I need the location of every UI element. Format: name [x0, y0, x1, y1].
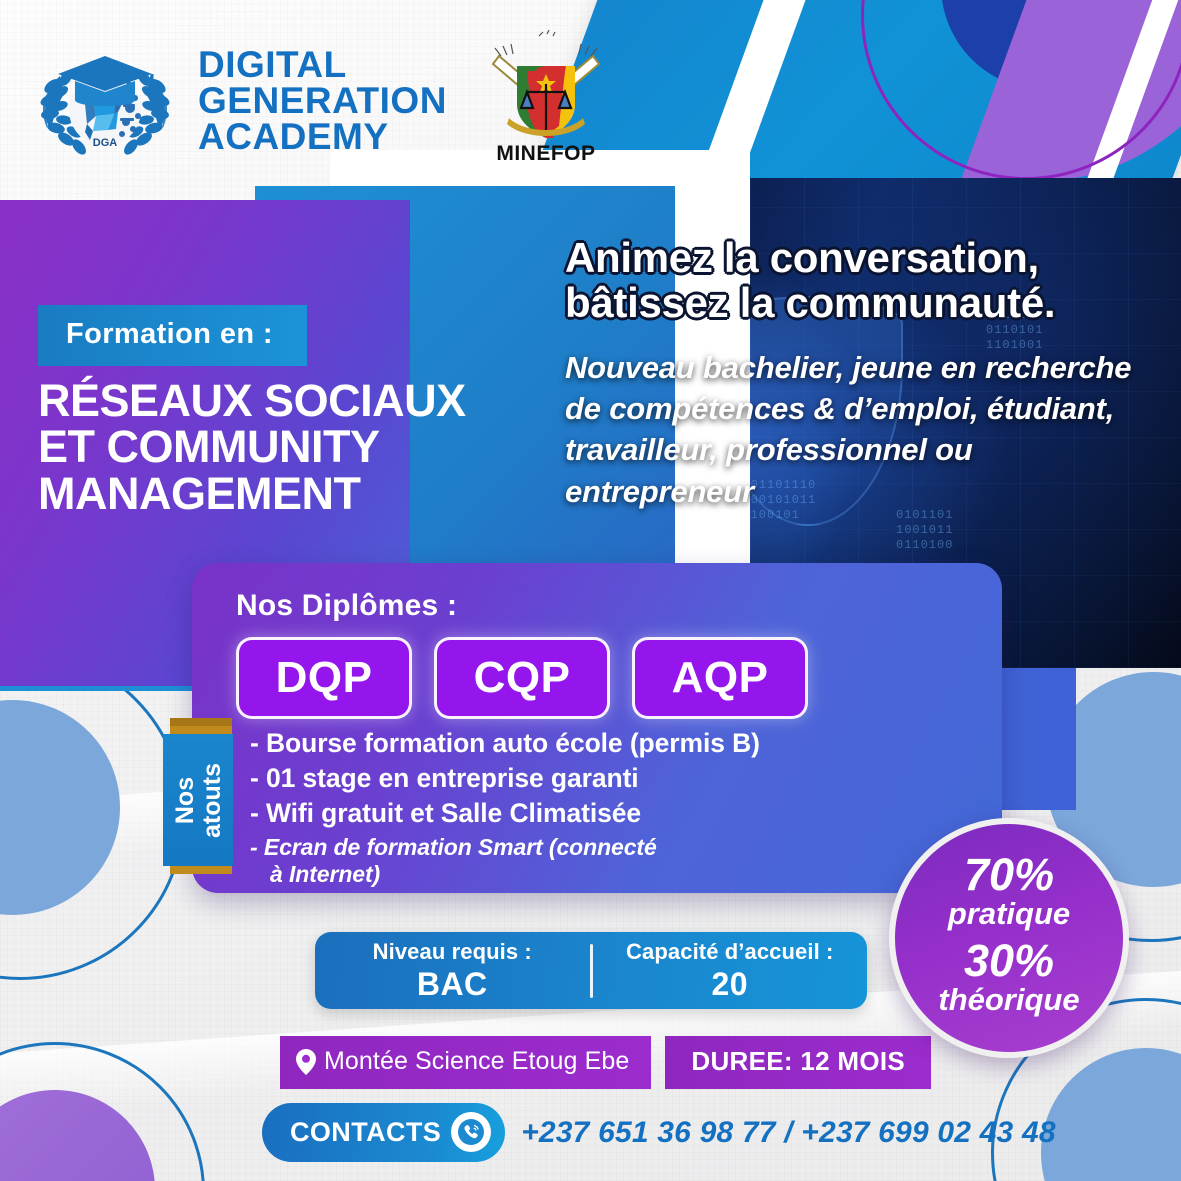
atouts-item-3: - Wifi gratuit et Salle Climatisée	[250, 796, 970, 831]
theory-percent: 30%	[964, 938, 1054, 983]
diploma-badge-dqp[interactable]: DQP	[236, 637, 412, 719]
atouts-item-4-line-1: - Ecran de formation Smart (connecté	[250, 834, 657, 860]
top-right-purple-ring	[861, 0, 1181, 180]
diploma-badge-aqp[interactable]: AQP	[632, 637, 808, 719]
atouts-item-4: - Ecran de formation Smart (connecté à I…	[250, 834, 970, 887]
headline-line-2: bâtissez la communauté.	[565, 279, 1055, 326]
brand-line-2: GENERATION	[198, 83, 447, 119]
brand-line-1: DIGITAL	[198, 47, 447, 83]
bottom-right-blue-circle-2	[1041, 1048, 1181, 1181]
contacts-badge[interactable]: CONTACTS	[262, 1103, 505, 1162]
headline-block: Animez la conversation, bâtissez la comm…	[565, 236, 1160, 512]
formation-tag: Formation en :	[38, 305, 307, 366]
binary-texture-2: 0101101 1001011 0110100	[896, 508, 953, 553]
contacts-row: CONTACTS +237 651 36 98 77 / +237 699 02…	[262, 1103, 1056, 1162]
top-right-white-strip	[680, 0, 860, 230]
headline-subtitle: Nouveau bachelier, jeune en recherche de…	[565, 347, 1160, 512]
brand-name: DIGITAL GENERATION ACADEMY	[198, 47, 447, 155]
phone-icon-circle	[451, 1112, 491, 1152]
practice-label: pratique	[948, 897, 1070, 932]
dga-logo: DGA	[30, 34, 180, 169]
minefop-label: MINEFOP	[496, 142, 595, 166]
top-right-violet-shape	[961, 0, 1181, 180]
minefop-logo: MINEFOP	[477, 26, 615, 176]
contact-phone-numbers: +237 651 36 98 77 / +237 699 02 43 48	[521, 1116, 1056, 1150]
top-right-navy-circle	[941, 0, 1151, 90]
practice-percent: 70%	[964, 852, 1054, 897]
right-blue-bar	[1001, 630, 1076, 810]
contacts-label: CONTACTS	[290, 1117, 441, 1148]
requirements-bar: Niveau requis : BAC Capacité d’accueil :…	[315, 932, 867, 1009]
bottom-left-blue-ring-2	[0, 1042, 205, 1181]
top-right-blue-banner	[521, 0, 1181, 210]
duration-pill: DUREE: 12 MOIS	[665, 1036, 931, 1089]
capacity-label: Capacité d’accueil :	[593, 939, 868, 965]
brand-line-3: ACADEMY	[198, 119, 447, 155]
capacity-value: 20	[593, 966, 868, 1003]
diplomas-label: Nos Diplômes :	[236, 589, 1002, 623]
location-address: Montée Science Etoug Ebe	[324, 1047, 629, 1076]
atouts-tab-line-1: Nos	[171, 776, 199, 823]
location-pill[interactable]: Montée Science Etoug Ebe	[280, 1036, 651, 1089]
page-title: RÉSEAUX SOCIAUX ET COMMUNITY MANAGEMENT	[38, 378, 468, 517]
dga-logo-subtext: DGA	[93, 137, 118, 149]
level-section: Niveau requis : BAC	[315, 939, 590, 1003]
bottom-left-purple-circle	[0, 1090, 155, 1181]
location-duration-row: Montée Science Etoug Ebe DUREE: 12 MOIS	[280, 1036, 931, 1089]
atouts-item-1: - Bourse formation auto école (permis B)	[250, 726, 970, 761]
cameroon-coat-of-arms-icon	[481, 26, 611, 148]
top-right-white-strip-2	[1079, 0, 1181, 200]
diploma-badge-cqp[interactable]: CQP	[434, 637, 610, 719]
headline-text: Animez la conversation, bâtissez la comm…	[565, 236, 1160, 325]
atouts-tab-text: Nos atouts	[172, 763, 225, 838]
capacity-section: Capacité d’accueil : 20	[593, 939, 868, 1003]
level-value: BAC	[315, 966, 590, 1003]
graduation-laurel-logo: DGA	[30, 34, 180, 169]
diplomas-row: DQP CQP AQP	[236, 637, 1002, 719]
atouts-tab-line-2: atouts	[197, 763, 225, 838]
atouts-tab: Nos atouts	[163, 734, 233, 866]
headline-line-1: Animez la conversation,	[565, 234, 1039, 281]
phone-ringing-icon	[458, 1119, 484, 1145]
course-title-block: Formation en : RÉSEAUX SOCIAUX ET COMMUN…	[38, 305, 468, 517]
atouts-list: - Bourse formation auto école (permis B)…	[250, 726, 970, 887]
header: DGA DIGITAL GENERATION ACADEMY	[30, 26, 615, 176]
map-pin-icon	[296, 1049, 316, 1075]
bottom-left-blue-ring	[0, 650, 185, 980]
atouts-item-2: - 01 stage en entreprise garanti	[250, 761, 970, 796]
poster-canvas: 01001101110 10100101011 110100101 010110…	[0, 0, 1181, 1181]
practice-theory-badge: 70% pratique 30% théorique	[889, 818, 1129, 1058]
theory-label: théorique	[938, 983, 1079, 1018]
level-label: Niveau requis :	[315, 939, 590, 965]
bottom-left-blue-circle	[0, 700, 120, 915]
atouts-item-4-line-2: à Internet)	[250, 861, 970, 888]
